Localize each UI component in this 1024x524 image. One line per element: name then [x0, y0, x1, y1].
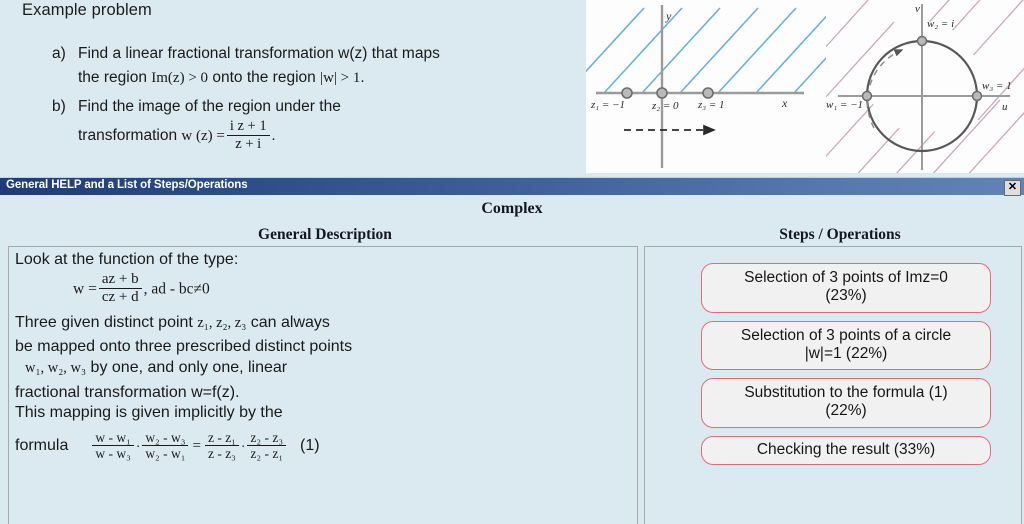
label-axis-y: y [665, 9, 672, 23]
item-b-line2a: transformation [78, 120, 177, 153]
complex-plane-figure: z₁ = −1 z₂ = 0 z₃ = 1 y x [586, 0, 1024, 173]
label-z1: z₁ = −1 [590, 99, 625, 111]
formula1-condition: , ad - bc≠0 [144, 281, 210, 298]
item-a-math-target: |w| > 1 [320, 70, 360, 86]
step-2-line1: Selection of 3 points of a circle [708, 327, 984, 345]
step-2-line2: |w|=1 (22%) [708, 345, 984, 363]
desc-line-1: Look at the function of the type: [15, 251, 637, 269]
formula2-frac2: w₂ - w₃w₂ - w₁ [142, 430, 188, 461]
close-icon[interactable]: ✕ [1004, 180, 1021, 196]
fraction-denominator: z + i [227, 135, 270, 152]
step-box-selection-circle[interactable]: Selection of 3 points of a circle |w|=1 … [701, 321, 991, 371]
formula2-f2-num: w₂ - w₃ [142, 430, 188, 445]
steps-operations-panel: Selection of 3 points of Imz=0 (23%) Sel… [644, 246, 1022, 524]
formula2-frac3: z - z₁z - z₃ [205, 430, 239, 461]
step-3-line2: (22%) [708, 402, 984, 420]
figure-svg: z₁ = −1 z₂ = 0 z₃ = 1 y x [586, 0, 1024, 173]
formula-general-form: w =az + bcz + d, ad - bc≠0 [73, 272, 637, 307]
desc-z-points: z₁, z₂, z₃ [197, 315, 246, 331]
general-description-panel: Look at the function of the type: w =az … [8, 246, 638, 524]
item-a-line1: Find a linear fractional transformation … [78, 45, 440, 62]
label-w2: w₂ = i [927, 18, 954, 30]
label-axis-x: x [781, 96, 788, 110]
formula2-dot1: · [136, 439, 141, 455]
item-marker-b: b) [52, 95, 78, 152]
help-window-title: General HELP and a List of Steps/Operati… [6, 179, 248, 191]
problem-items-list: a) Find a linear fractional transformati… [52, 42, 582, 158]
desc-line-5: fractional transformation w=f(z). [15, 384, 637, 402]
problem-statement: Example problem a) Find a linear fractio… [0, 0, 586, 173]
step-3-line1: Substitution to the formula (1) [708, 384, 984, 402]
item-a-period: . [360, 69, 364, 86]
formula2-f1-den: w - w₃ [92, 445, 133, 461]
step-1-line2: (23%) [708, 287, 984, 305]
step-box-substitution[interactable]: Substitution to the formula (1) (22%) [701, 378, 991, 428]
item-a-line2b: onto the region [212, 69, 315, 86]
point-z1 [622, 88, 632, 98]
formula-cross-ratio-row: formula w - w₁w - w₃ · w₂ - w₃w₂ - w₁ = … [15, 431, 637, 462]
page-title: Example problem [22, 1, 152, 20]
formula2-frac4: z₂ - z₃z₂ - z₁ [247, 430, 286, 461]
item-marker-a: a) [52, 42, 78, 90]
steps-list: Selection of 3 points of Imz=0 (23%) Sel… [701, 263, 991, 473]
problem-item-b: b) Find the image of the region under th… [52, 95, 582, 152]
label-w3: w₃ = 1 [982, 80, 1012, 92]
item-a-line2a: the region [78, 69, 147, 86]
item-a-math-region: Im(z) > 0 [151, 70, 208, 86]
step-1-line1: Selection of 3 points of Imz=0 [708, 269, 984, 287]
section-title: Complex [0, 200, 1024, 218]
step-4-line1: Checking the result (33%) [708, 441, 984, 459]
desc-w-points: w₁, w₂, w₃ [25, 360, 86, 376]
label-axis-v: v [915, 3, 920, 15]
label-axis-u: u [1002, 101, 1008, 113]
item-b-math-lhs: w (z) = [181, 128, 224, 144]
desc-line-2a: Three given distinct point [15, 314, 193, 331]
point-w3 [973, 92, 982, 101]
formula2-f2-den: w₂ - w₁ [142, 445, 188, 461]
item-body-b: Find the image of the region under the t… [78, 95, 341, 152]
formula2-f4-num: z₂ - z₃ [247, 430, 286, 445]
desc-line-2b: can always [251, 314, 330, 331]
item-b-line1: Find the image of the region under the [78, 98, 341, 115]
formula2-number: (1) [300, 437, 320, 455]
formula2-f3-num: z - z₁ [205, 430, 239, 445]
formula2-dot2: · [241, 439, 246, 455]
desc-line-4: w₁, w₂, w₃ by one, and only one, linear [15, 359, 637, 377]
step-box-checking-result[interactable]: Checking the result (33%) [701, 436, 991, 465]
item-b-period: . [272, 128, 276, 144]
point-z2 [657, 88, 667, 98]
column-header-steps-operations: Steps / Operations [700, 226, 980, 244]
column-header-general-description: General Description [180, 226, 470, 244]
formula1-fraction: az + bcz + d [99, 271, 142, 306]
point-z3 [703, 88, 713, 98]
label-z3: z₃ = 1 [697, 99, 725, 111]
formula2-frac1: w - w₁w - w₃ [92, 430, 133, 461]
desc-line-3: be mapped onto three prescribed distinct… [15, 338, 637, 356]
desc-line-4b: by one, and only one, linear [91, 359, 288, 376]
item-b-fraction: i z + 1z + i [227, 118, 270, 151]
formula2-equals: = [192, 438, 200, 455]
help-window-titlebar[interactable]: General HELP and a List of Steps/Operati… [0, 177, 1024, 195]
formula2-f4-den: z₂ - z₁ [247, 445, 286, 461]
desc-line-2: Three given distinct point z₁, z₂, z₃ ca… [15, 314, 637, 332]
desc-line-6: This mapping is given implicitly by the [15, 404, 637, 422]
point-w1 [863, 92, 872, 101]
label-w1: w₁ = −1 [826, 99, 863, 111]
fraction-numerator: i z + 1 [227, 118, 270, 134]
formula2-f3-den: z - z₃ [205, 445, 239, 461]
formula2-f1-num: w - w₁ [92, 430, 133, 445]
formula1-denominator: cz + d [99, 288, 142, 306]
step-box-selection-imz[interactable]: Selection of 3 points of Imz=0 (23%) [701, 263, 991, 313]
problem-area: Example problem a) Find a linear fractio… [0, 0, 1024, 173]
item-body-a: Find a linear fractional transformation … [78, 42, 440, 90]
problem-item-a: a) Find a linear fractional transformati… [52, 42, 582, 90]
formula1-numerator: az + b [99, 271, 142, 288]
point-w2 [918, 37, 927, 46]
spacer-1 [15, 307, 637, 314]
label-z2: z₂ = 0 [651, 100, 679, 112]
formula2-label: formula [15, 437, 68, 455]
formula1-lhs: w = [73, 281, 97, 298]
